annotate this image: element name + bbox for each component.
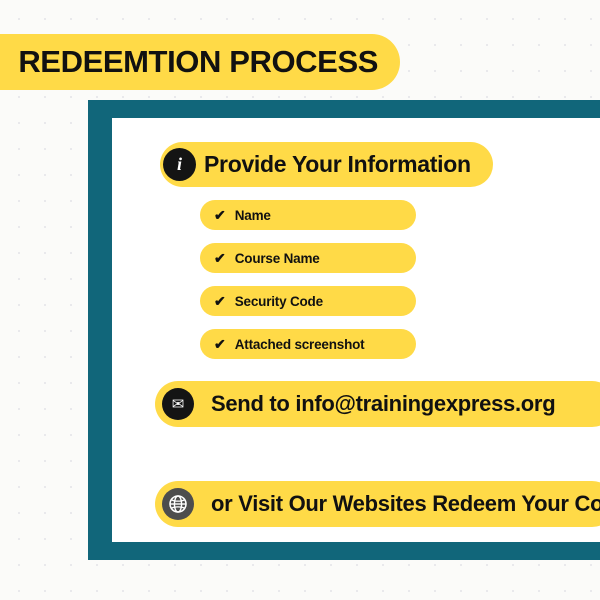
check-icon: ✔ bbox=[214, 208, 226, 222]
check-icon: ✔ bbox=[214, 251, 226, 265]
info-icon-glyph: i bbox=[177, 154, 182, 175]
list-item-label: Security Code bbox=[235, 294, 323, 309]
envelope-icon-glyph: ✉ bbox=[172, 395, 185, 413]
list-item-label: Attached screenshot bbox=[235, 337, 365, 352]
website-banner: or Visit Our Websites Redeem Your Course bbox=[155, 481, 600, 527]
provide-information-heading: Provide Your Information bbox=[204, 151, 471, 178]
email-banner: Send to info@trainingexpress.org bbox=[155, 381, 600, 427]
list-item: ✔ Attached screenshot bbox=[200, 329, 416, 359]
list-item: ✔ Name bbox=[200, 200, 416, 230]
title-banner: REDEEMTION PROCESS bbox=[0, 34, 400, 90]
email-text: Send to info@trainingexpress.org bbox=[211, 391, 555, 417]
slide-canvas: REDEEMTION PROCESS Provide Your Informat… bbox=[0, 0, 600, 600]
list-item: ✔ Security Code bbox=[200, 286, 416, 316]
list-item-label: Course Name bbox=[235, 251, 320, 266]
envelope-icon: ✉ bbox=[162, 388, 194, 420]
check-icon: ✔ bbox=[214, 294, 226, 308]
website-text: or Visit Our Websites Redeem Your Course bbox=[211, 491, 600, 517]
info-icon: i bbox=[163, 148, 196, 181]
list-item-label: Name bbox=[235, 208, 271, 223]
page-title: REDEEMTION PROCESS bbox=[18, 44, 378, 80]
provide-information-heading-pill: Provide Your Information bbox=[160, 142, 493, 187]
check-icon: ✔ bbox=[214, 337, 226, 351]
list-item: ✔ Course Name bbox=[200, 243, 416, 273]
globe-icon bbox=[162, 488, 194, 520]
